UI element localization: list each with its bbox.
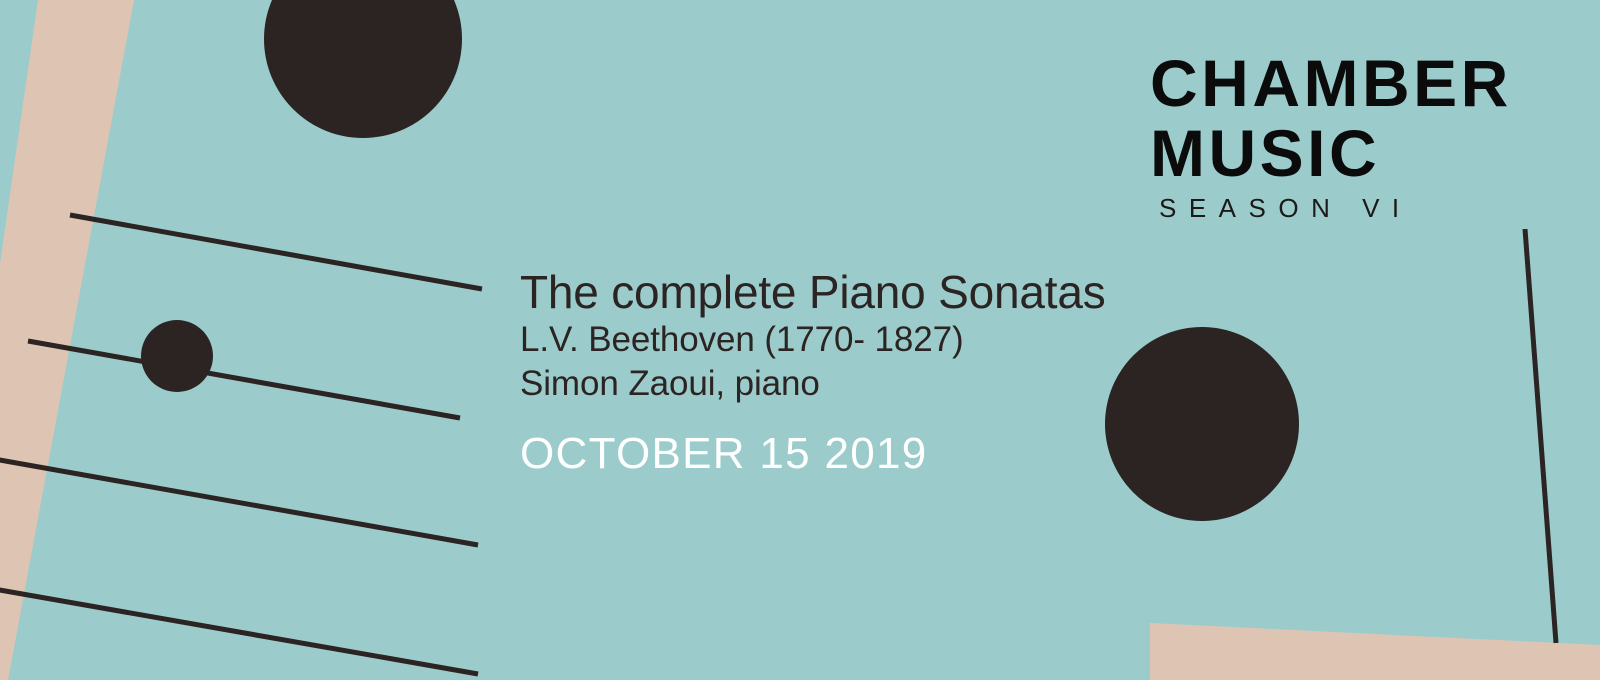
logo-line-season: SEASON VI [1150,188,1512,228]
logo-line-music: MUSIC [1150,118,1512,188]
chamber-music-logo: CHAMBER MUSIC SEASON VI [1150,48,1512,228]
event-headline: The complete Piano Sonatas [520,266,1106,318]
staff-line-2 [28,341,460,418]
staff-line-3 [0,459,478,545]
black-circle-right [1105,327,1299,521]
black-note-head [141,320,213,392]
black-circle-top [264,0,462,138]
staff-line-4 [0,589,478,674]
event-performer: Simon Zaoui, piano [520,362,1106,406]
event-details: The complete Piano Sonatas L.V. Beethove… [520,266,1106,480]
staff-line-1 [70,215,482,289]
event-composer: L.V. Beethoven (1770- 1827) [520,318,1106,362]
beige-corner-block [1150,623,1600,680]
diagonal-beige-stripe [0,0,134,680]
event-date: OCTOBER 15 2019 [520,428,1106,480]
bar-line-right [1525,229,1556,643]
logo-line-chamber: CHAMBER [1150,48,1512,118]
concert-poster: CHAMBER MUSIC SEASON VI The complete Pia… [0,0,1600,680]
